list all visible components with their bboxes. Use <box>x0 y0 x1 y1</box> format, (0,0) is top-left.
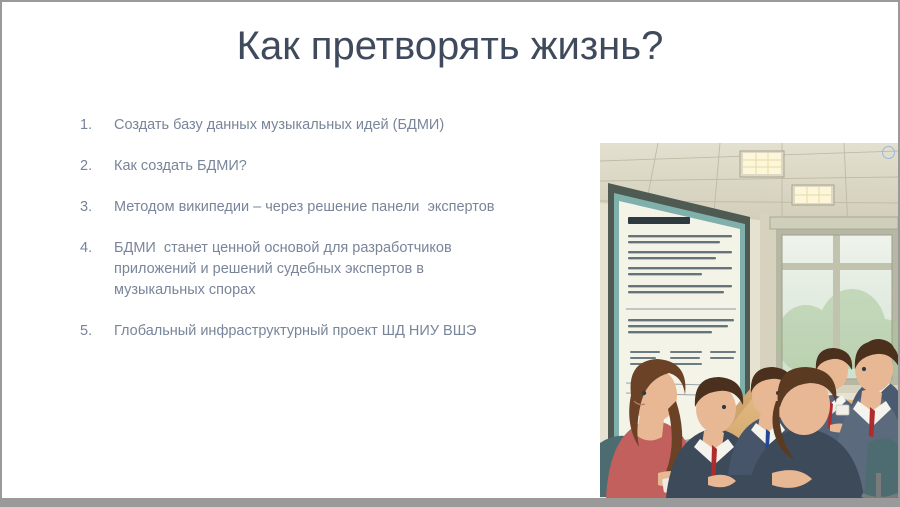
slide-frame: Как претворять жизнь? 1. Создать базу да… <box>0 0 900 507</box>
list-item-number: 1. <box>80 115 114 136</box>
list-item: 5. Глобальный инфраструктурный проект ШД… <box>80 321 580 342</box>
list-item-text: Как создать БДМИ? <box>114 156 580 177</box>
list-item-text: Глобальный инфраструктурный проект ШД НИ… <box>114 321 580 342</box>
page-title: Как претворять жизнь? <box>2 24 898 69</box>
ceiling-light <box>792 185 834 205</box>
numbered-list: 1. Создать базу данных музыкальных идей … <box>80 115 580 342</box>
meeting-room-graphic <box>600 143 898 498</box>
list-item-text: Создать базу данных музыкальных идей (БД… <box>114 115 580 136</box>
meeting-room-illustration <box>600 143 898 498</box>
slide-canvas: Как претворять жизнь? 1. Создать базу да… <box>2 2 898 498</box>
list-item-number: 2. <box>80 156 114 177</box>
list-item: 2. Как создать БДМИ? <box>80 156 580 177</box>
list-item-number: 5. <box>80 321 114 342</box>
list-item: 1. Создать базу данных музыкальных идей … <box>80 115 580 136</box>
list-item-number: 4. <box>80 238 114 259</box>
list-item-text: Методом википедии – через решение панели… <box>114 197 580 218</box>
list-item: 3. Методом википедии – через решение пан… <box>80 197 580 218</box>
list-item-text: БДМИ станет ценной основой для разработч… <box>114 238 496 301</box>
list-item-number: 3. <box>80 197 114 218</box>
list-item: 4. БДМИ станет ценной основой для разраб… <box>80 238 580 301</box>
cup <box>836 405 849 415</box>
ceiling-light <box>740 151 784 177</box>
